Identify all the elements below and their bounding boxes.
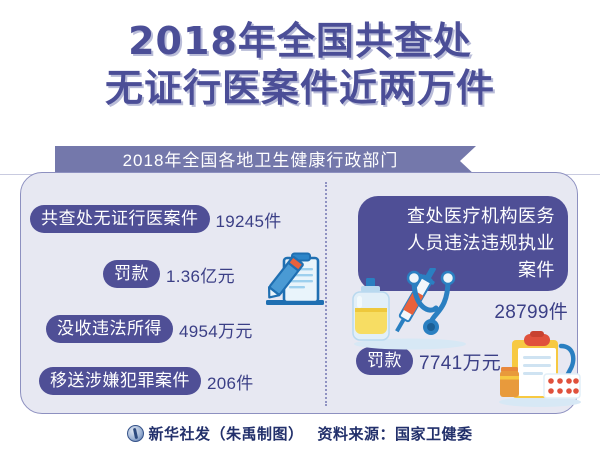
title-line-2: 无证行医案件近两万件 bbox=[0, 65, 600, 112]
stat-row: 没收违法所得 4954万元 bbox=[46, 315, 253, 343]
page-title: 2018年全国共查处 无证行医案件近两万件 bbox=[0, 18, 600, 112]
stat-label-line-1: 查处医疗机构医务 bbox=[371, 203, 555, 230]
stat-row: 共查处无证行医案件 19245件 bbox=[30, 205, 282, 233]
left-statistics-column: 共查处无证行医案件 19245件 罚款 1.36亿元 没收违法所得 4954万元… bbox=[20, 172, 325, 414]
clipboard-pills-icon bbox=[498, 330, 584, 410]
stat-row: 罚款 1.36亿元 bbox=[103, 260, 235, 288]
xinhua-logo-icon bbox=[127, 425, 144, 442]
clipboard-pencil-icon bbox=[258, 252, 332, 314]
stat-value: 4954万元 bbox=[179, 317, 253, 342]
stat-row: 移送涉嫌犯罪案件 206件 bbox=[39, 367, 254, 395]
stat-label: 罚款 bbox=[103, 260, 160, 288]
stat-label: 共查处无证行医案件 bbox=[30, 205, 210, 233]
stat-value: 19245件 bbox=[216, 207, 282, 232]
stat-value: 206件 bbox=[207, 369, 254, 394]
footer: 新华社发（朱禹制图）资料来源：国家卫健委 bbox=[0, 423, 600, 444]
stat-label: 移送涉嫌犯罪案件 bbox=[39, 367, 201, 395]
footer-credit: 新华社发（朱禹制图） bbox=[148, 426, 303, 443]
title-line-1: 2018年全国共查处 bbox=[0, 18, 600, 65]
stat-value: 1.36亿元 bbox=[166, 262, 235, 287]
stat-label: 没收违法所得 bbox=[46, 315, 173, 343]
infographic-root: 2018年全国共查处 无证行医案件近两万件 2018年全国各地卫生健康行政部门 … bbox=[0, 0, 600, 449]
footer-source: 资料来源：国家卫健委 bbox=[318, 426, 473, 443]
right-statistics-column: 查处医疗机构医务 人员违法违规执业 案件 28799件 罚款 7741万元 bbox=[340, 172, 578, 414]
medicine-bottle-stethoscope-icon bbox=[352, 268, 480, 352]
stat-value: 28799件 bbox=[494, 297, 568, 324]
stat-label-line-2: 人员违法违规执业 bbox=[371, 230, 555, 257]
